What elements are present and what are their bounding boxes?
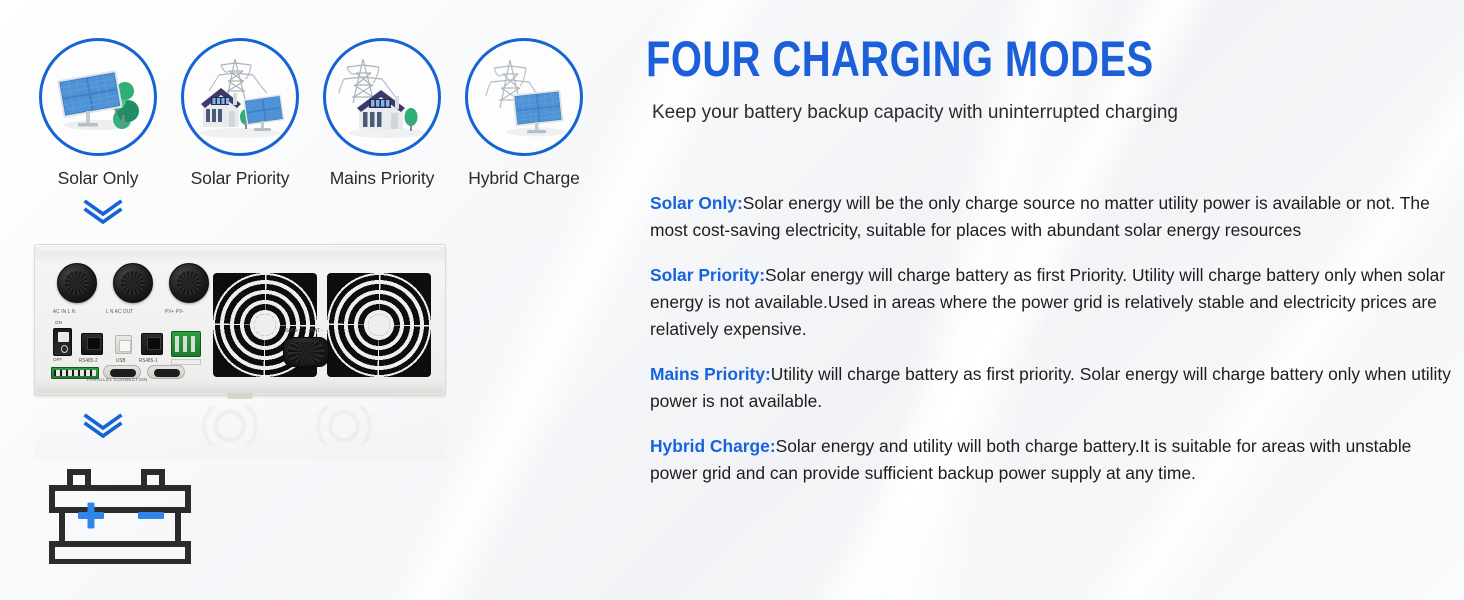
left-illustration-panel: Solar Only	[0, 0, 630, 600]
mode-circle-mains-priority	[323, 38, 441, 156]
ac-in-label: AC IN L N	[53, 309, 75, 315]
mode-label: Hybrid Charge	[468, 168, 580, 189]
mode-icons-row: Solar Only	[38, 38, 584, 189]
cooling-fan-right	[327, 273, 431, 377]
pv-connector	[169, 263, 209, 303]
chevron-down-icon-bottom	[80, 412, 126, 442]
power-rocker-switch[interactable]	[53, 328, 72, 356]
page-subtitle: Keep your battery backup capacity with u…	[652, 102, 1178, 124]
descriptions-list: Solar Only:Solar energy will be the only…	[650, 190, 1456, 487]
usb-label: USB	[116, 358, 126, 364]
description-text: Solar energy will charge battery as firs…	[650, 265, 1445, 338]
rs485-1-label: RS485-1	[139, 358, 158, 364]
battery-polarity-marks	[78, 503, 164, 529]
right-content-panel: FOUR CHARGING MODES Keep your battery ba…	[646, 0, 1464, 600]
page-title: FOUR CHARGING MODES	[646, 34, 1154, 84]
rs485-1-port	[141, 333, 163, 355]
ac-in-connector	[57, 263, 97, 303]
description-term: Solar Priority:	[650, 265, 765, 285]
mode-circle-solar-priority	[181, 38, 299, 156]
solar-panel-trees-icon	[52, 59, 144, 135]
battery-terminal-cover	[283, 337, 329, 367]
description-mains-priority: Mains Priority:Utility will charge batte…	[650, 361, 1456, 414]
rs485-2-label: RS485-2	[79, 358, 98, 364]
inverter-device: AC IN L N L N AC OUT PV+ PV- ON OFF RS48…	[34, 244, 446, 396]
mode-circle-hybrid-charge	[465, 38, 583, 156]
mode-item-solar-only[interactable]: Solar Only	[38, 38, 158, 189]
description-text: Solar energy will be the only charge sou…	[650, 193, 1430, 240]
chassis-bottom-lip	[37, 384, 443, 393]
mode-item-hybrid-charge[interactable]: Hybrid Charge	[464, 38, 584, 189]
pv-label: PV+ PV-	[165, 309, 184, 315]
mode-circle-solar-only	[39, 38, 157, 156]
switch-on-label: ON	[55, 320, 62, 325]
mode-label: Mains Priority	[330, 168, 435, 189]
chassis-foot	[227, 393, 253, 399]
green-terminal-block	[171, 331, 201, 357]
mode-label: Solar Only	[58, 168, 139, 189]
description-solar-only: Solar Only:Solar energy will be the only…	[650, 190, 1456, 243]
pylon-solar-panel-icon	[476, 54, 572, 140]
usb-port	[115, 335, 132, 354]
inverter-chassis: AC IN L N L N AC OUT PV+ PV- ON OFF RS48…	[34, 244, 446, 396]
ac-out-connector	[113, 263, 153, 303]
description-solar-priority: Solar Priority:Solar energy will charge …	[650, 262, 1456, 342]
description-term: Mains Priority:	[650, 364, 771, 384]
ac-out-label: L N AC OUT	[106, 309, 133, 315]
description-hybrid-charge: Hybrid Charge:Solar energy and utility w…	[650, 433, 1456, 486]
description-term: Solar Only:	[650, 193, 743, 213]
bat-negative-label: BAT -	[311, 328, 323, 334]
description-text: Utility will charge battery as first pri…	[650, 364, 1451, 411]
pylon-house-icon	[333, 53, 431, 141]
chevron-down-icon-top	[80, 198, 126, 228]
bat-positive-label: BAT +	[285, 328, 298, 334]
page-root: Solar Only	[0, 0, 1464, 600]
parallel-connection-label: PARALLEL CONNECTION	[87, 377, 148, 382]
rs485-2-port	[81, 333, 103, 355]
mode-item-solar-priority[interactable]: Solar Priority	[180, 38, 300, 189]
chassis-top-lip	[39, 248, 441, 253]
mode-item-mains-priority[interactable]: Mains Priority	[322, 38, 442, 189]
dsub-connector-b	[147, 365, 185, 379]
battery-icon	[40, 448, 200, 569]
switch-off-label: OFF	[53, 357, 62, 362]
mode-label: Solar Priority	[191, 168, 290, 189]
description-term: Hybrid Charge:	[650, 436, 776, 456]
house-solar-pylon-icon	[191, 53, 289, 141]
